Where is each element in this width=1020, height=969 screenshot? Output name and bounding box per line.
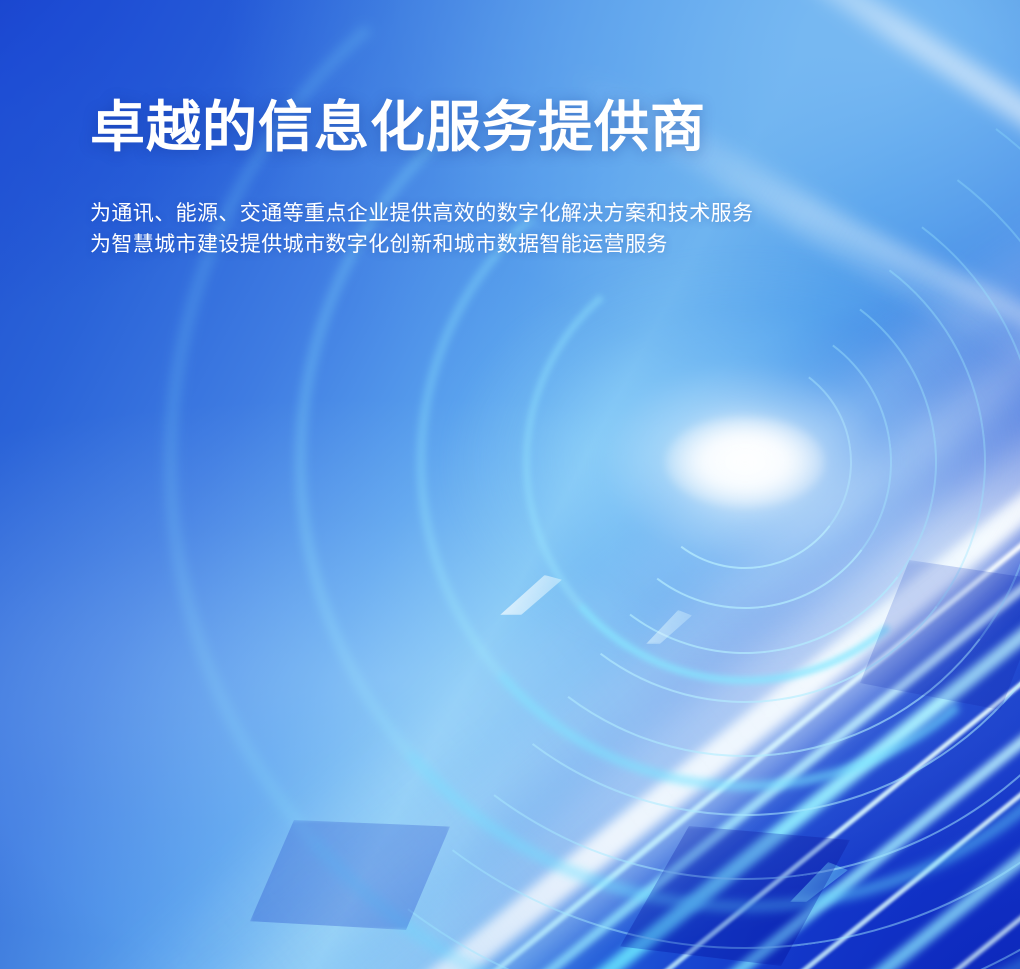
hero-banner: 卓越的信息化服务提供商 为通讯、能源、交通等重点企业提供高效的数字化解决方案和技… [0,0,1020,969]
hero-subtitle: 为通讯、能源、交通等重点企业提供高效的数字化解决方案和技术服务 为智慧城市建设提… [90,198,930,260]
copy-spacer [90,158,930,198]
page-title: 卓越的信息化服务提供商 [90,96,930,158]
subtitle-line-2: 为智慧城市建设提供城市数字化创新和城市数据智能运营服务 [90,229,930,260]
hero-copy: 卓越的信息化服务提供商 为通讯、能源、交通等重点企业提供高效的数字化解决方案和技… [90,96,930,260]
subtitle-line-1: 为通讯、能源、交通等重点企业提供高效的数字化解决方案和技术服务 [90,198,930,229]
